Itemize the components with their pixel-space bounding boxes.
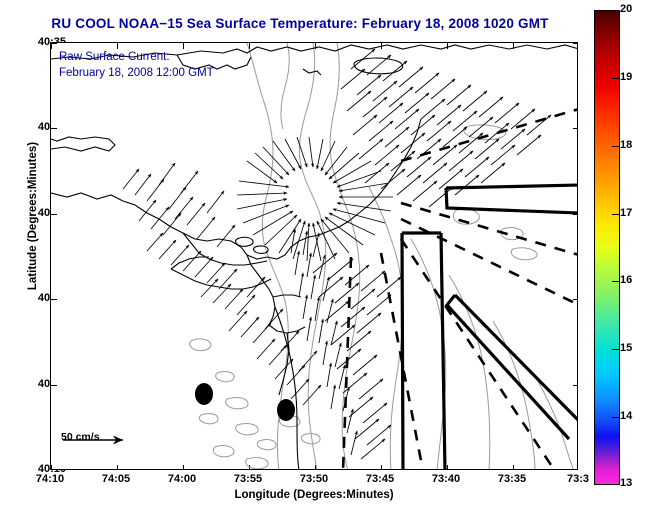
colorbar-tick — [612, 281, 620, 282]
colorbar-tick-label: 17 — [620, 207, 650, 219]
x-tick-label: 73:50 — [284, 473, 344, 485]
colorbar-tick — [612, 78, 620, 79]
colorbar-tick — [612, 10, 620, 11]
colorbar-tick — [612, 214, 620, 215]
scale-bar-arrow-icon — [61, 433, 135, 447]
colorbar-tick — [612, 484, 620, 485]
colorbar-tick-label: 15 — [620, 342, 650, 354]
colorbar-tick — [612, 349, 620, 350]
colorbar-tick-label: 13 — [620, 477, 650, 489]
colorbar-tick — [612, 146, 620, 147]
x-tick-label: 74:05 — [86, 473, 146, 485]
colorbar-tick — [612, 417, 620, 418]
colorbar-gradient — [595, 11, 619, 484]
x-tick-label: 73:55 — [218, 473, 278, 485]
x-tick-label: 73:35 — [482, 473, 542, 485]
colorbar-tick-label: 16 — [620, 274, 650, 286]
vector-scale-bar: 50 cm/s — [61, 431, 100, 443]
x-axis-label: Longitude (Degrees:Minutes) — [50, 489, 578, 501]
station-markers[interactable] — [51, 43, 578, 470]
annotation-line-1: Raw Surface Current: — [59, 49, 214, 65]
figure-title: RU COOL NOAA−15 Sea Surface Temperature:… — [0, 16, 600, 31]
colorbar — [594, 10, 620, 485]
map-plot-area[interactable]: Raw Surface Current: February 18, 2008 1… — [50, 42, 578, 470]
colorbar-tick-label: 18 — [620, 139, 650, 151]
annotation-line-2: February 18, 2008 12:00 GMT — [59, 65, 214, 81]
x-tick-label: 74:10 — [20, 473, 80, 485]
colorbar-tick-label: 19 — [620, 71, 650, 83]
colorbar-tick-label: 14 — [620, 410, 650, 422]
colorbar-tick-label: 20 — [620, 3, 650, 15]
station-marker[interactable] — [195, 383, 213, 405]
annotation-block: Raw Surface Current: February 18, 2008 1… — [59, 49, 214, 81]
x-tick-label: 73:45 — [350, 473, 410, 485]
x-tick-label: 74:00 — [152, 473, 212, 485]
sst-map-figure: RU COOL NOAA−15 Sea Surface Temperature:… — [0, 0, 651, 518]
station-marker[interactable] — [277, 399, 295, 421]
x-tick-label: 73:40 — [416, 473, 476, 485]
